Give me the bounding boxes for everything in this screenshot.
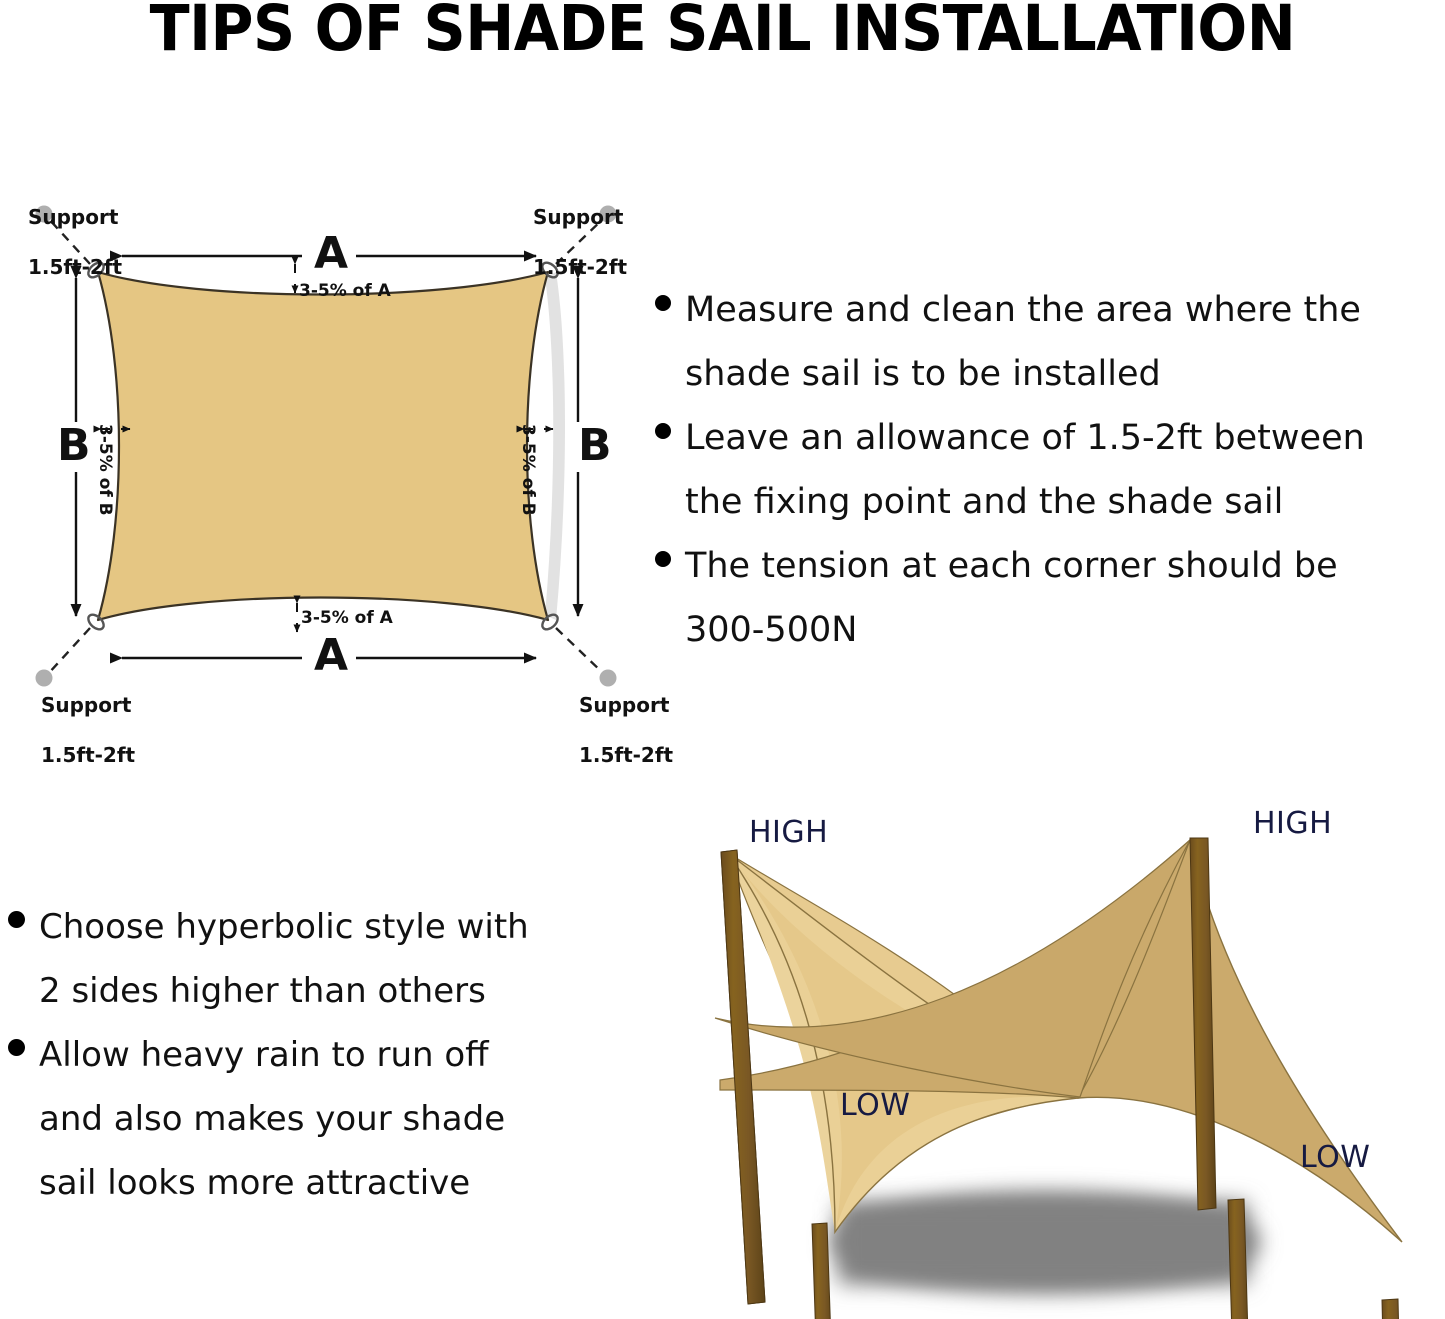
dimension-letter-a-bottom: A	[314, 630, 348, 681]
dimension-letter-b-right: B	[578, 420, 612, 471]
shade-sail-shape	[98, 272, 548, 620]
curvature-note-left: 3-5% of B	[95, 424, 115, 516]
support-label-line2: 1.5ft-2ft	[533, 255, 627, 279]
list-item-label: shade sail is to be installed	[685, 342, 1161, 406]
support-label-line1: Support	[28, 205, 118, 229]
dimension-letter-b-left: B	[57, 420, 91, 471]
sail-drop-shadow	[545, 272, 565, 620]
list-item: Measure and clean the area where the	[655, 278, 1445, 342]
hyperbolic-sail-illustration	[660, 790, 1445, 1319]
list-item-label: Choose hyperbolic style with	[39, 895, 529, 959]
list-item-label: Measure and clean the area where the	[685, 278, 1361, 342]
curvature-note-bottom: 3-5% of A	[301, 608, 393, 628]
label-high-right: HIGH	[1253, 806, 1332, 841]
bullet-dot-icon	[8, 911, 25, 928]
curvature-note-right: 3-5% of B	[518, 424, 538, 516]
bullet-dot-icon	[8, 1039, 25, 1056]
list-item-continuation: sail looks more attractive	[8, 1151, 628, 1215]
list-item-label: the fixing point and the shade sail	[685, 470, 1283, 534]
support-label-line2: 1.5ft-2ft	[28, 255, 122, 279]
post-high-right	[1190, 838, 1216, 1210]
list-item-label: The tension at each corner should be	[685, 534, 1338, 598]
support-label-line1: Support	[41, 693, 131, 717]
list-item-label: 300-500N	[685, 598, 857, 662]
tips-list-top-right: Measure and clean the area where the sha…	[655, 278, 1445, 662]
support-label-top-right: Support 1.5ft-2ft	[519, 180, 627, 280]
bullet-dot-icon	[655, 423, 671, 439]
list-item-continuation: the fixing point and the shade sail	[655, 470, 1445, 534]
support-label-line1: Support	[579, 693, 669, 717]
support-label-line2: 1.5ft-2ft	[41, 743, 135, 767]
list-item-continuation: 2 sides higher than others	[8, 959, 628, 1023]
support-label-bottom-right: Support 1.5ft-2ft	[565, 668, 673, 768]
label-low-right: LOW	[1300, 1140, 1370, 1175]
list-item-continuation: 300-500N	[655, 598, 1445, 662]
list-item: Allow heavy rain to run off	[8, 1023, 628, 1087]
support-label-line2: 1.5ft-2ft	[579, 743, 673, 767]
support-label-line1: Support	[533, 205, 623, 229]
support-label-top-left: Support 1.5ft-2ft	[14, 180, 122, 280]
ground-shadow-body	[838, 1202, 1248, 1284]
post-low-left	[812, 1223, 833, 1319]
page-title: TIPS OF SHADE SAIL INSTALLATION	[51, 0, 1395, 62]
list-item-label: and also makes your shade	[39, 1087, 505, 1151]
list-item-label: 2 sides higher than others	[39, 959, 486, 1023]
dimension-letter-a-top: A	[314, 228, 348, 279]
list-item: Leave an allowance of 1.5-2ft between	[655, 406, 1445, 470]
list-item-continuation: and also makes your shade	[8, 1087, 628, 1151]
post-low-right	[1382, 1299, 1404, 1319]
list-item: The tension at each corner should be	[655, 534, 1445, 598]
list-item-continuation: shade sail is to be installed	[655, 342, 1445, 406]
list-item: Choose hyperbolic style with	[8, 895, 628, 959]
support-label-bottom-left: Support 1.5ft-2ft	[27, 668, 135, 768]
list-item-label: Allow heavy rain to run off	[39, 1023, 489, 1087]
label-low-left: LOW	[840, 1088, 910, 1123]
bullet-dot-icon	[655, 551, 671, 567]
list-item-label: sail looks more attractive	[39, 1151, 470, 1215]
bullet-dot-icon	[655, 295, 671, 311]
curvature-note-top: 3-5% of A	[299, 281, 391, 301]
label-high-left: HIGH	[749, 815, 828, 850]
tips-list-bottom-left: Choose hyperbolic style with 2 sides hig…	[8, 895, 628, 1215]
list-item-label: Leave an allowance of 1.5-2ft between	[685, 406, 1365, 470]
